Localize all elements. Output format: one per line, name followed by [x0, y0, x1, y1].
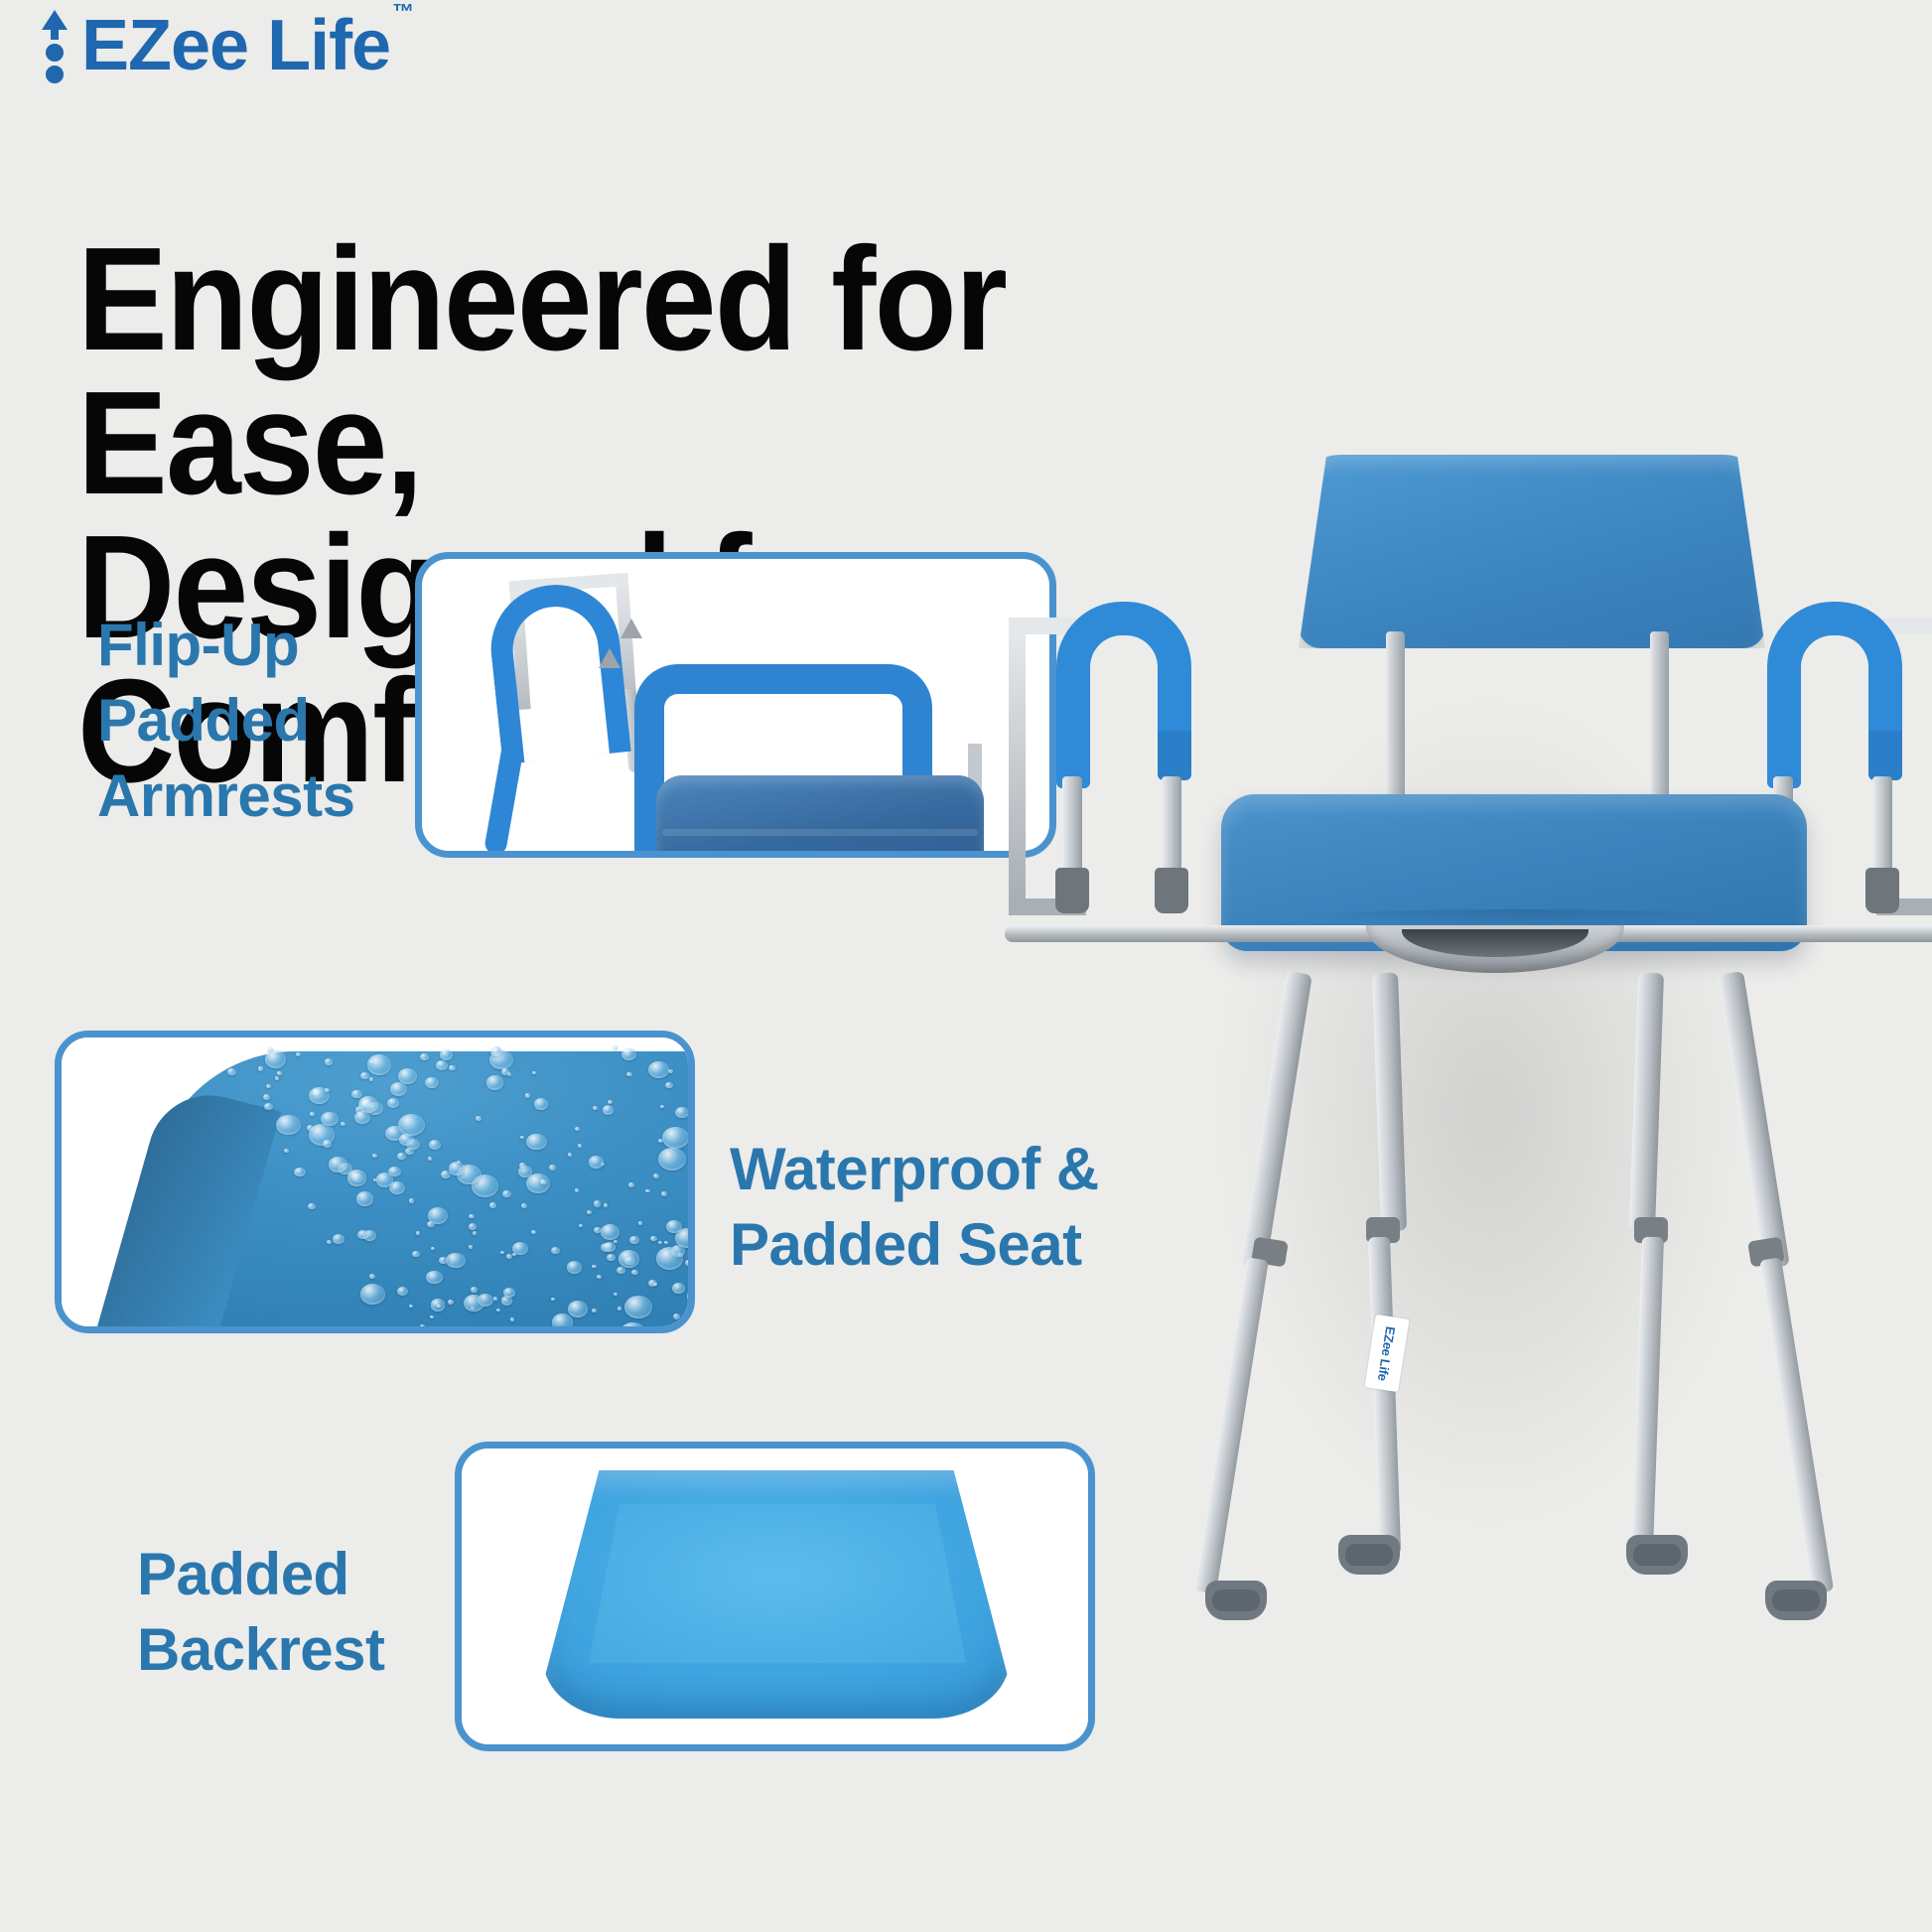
water-droplet [661, 1191, 667, 1196]
backrest-illustration [462, 1449, 1088, 1744]
water-droplet [347, 1170, 367, 1185]
headline-line-1: Engineered for Ease, [77, 217, 1006, 525]
water-droplet [638, 1221, 642, 1224]
water-droplet [614, 1045, 619, 1049]
water-droplet [622, 1328, 628, 1333]
water-droplet [412, 1251, 420, 1258]
water-droplet [486, 1075, 504, 1089]
flip-direction-arrow-icon [599, 648, 621, 668]
water-droplet [409, 1198, 414, 1202]
water-droplet [436, 1060, 449, 1070]
water-droplet [431, 1247, 435, 1250]
water-droplet [631, 1270, 638, 1276]
water-droplet [264, 1103, 273, 1110]
water-droplet [645, 1189, 650, 1193]
water-droplet [469, 1245, 473, 1248]
armrest-post-left-rear [1162, 776, 1181, 876]
water-droplet [429, 1140, 441, 1150]
water-droplet [360, 1284, 386, 1305]
water-droplet [351, 1090, 362, 1099]
armrest-left [1056, 602, 1195, 790]
water-droplet [427, 1221, 435, 1227]
water-droplet [675, 1107, 688, 1118]
water-droplet [589, 1156, 604, 1168]
water-droplet [489, 1202, 496, 1208]
water-droplet [656, 1247, 684, 1270]
water-droplet [608, 1100, 613, 1104]
water-droplet [673, 1313, 680, 1319]
water-droplet [486, 1327, 490, 1331]
water-droplet [593, 1106, 598, 1110]
water-droplet [525, 1093, 530, 1097]
water-droplet [446, 1253, 465, 1269]
leg-sticker-text: EZee Life [1375, 1325, 1398, 1382]
water-droplet [476, 1116, 482, 1121]
water-droplet [341, 1122, 345, 1126]
water-droplet [372, 1154, 377, 1158]
water-droplet [333, 1234, 345, 1244]
water-droplet [420, 1053, 429, 1061]
water-droplet [632, 1329, 637, 1333]
water-droplet [310, 1112, 314, 1116]
brand-logo: EZee Life™ [34, 10, 411, 85]
water-droplet [624, 1296, 652, 1318]
water-droplet [493, 1297, 497, 1301]
water-droplet [327, 1240, 332, 1244]
water-droplet [658, 1139, 663, 1143]
waterproof-seat-illustration [62, 1037, 688, 1326]
water-droplet [325, 1058, 333, 1064]
armrest-pad-left [1056, 602, 1191, 731]
water-droplet [626, 1072, 631, 1076]
water-droplet [653, 1283, 657, 1286]
water-droplet [604, 1203, 608, 1206]
armrest-post-left-front [1062, 776, 1082, 876]
water-droplet [552, 1313, 573, 1330]
armrest-pad-right [1767, 602, 1902, 731]
water-droplets [62, 1037, 688, 1326]
leg-foot-front-right [1765, 1581, 1827, 1620]
water-droplet [510, 1317, 514, 1320]
water-droplet [409, 1305, 413, 1308]
water-droplet [500, 1251, 504, 1254]
water-droplet [227, 1068, 236, 1075]
water-droplet [687, 1287, 695, 1307]
water-droplet [568, 1153, 572, 1156]
chair-backrest-pad [1299, 455, 1765, 648]
water-droplet [519, 1163, 526, 1169]
water-droplet [534, 1098, 549, 1110]
water-droplet [420, 1324, 425, 1328]
water-droplet [619, 1250, 639, 1267]
water-droplet [512, 1253, 516, 1256]
trademark-symbol: ™ [392, 0, 413, 24]
water-droplet [685, 1260, 693, 1266]
water-droplet [587, 1210, 592, 1214]
flip-direction-arrow-icon [621, 619, 642, 638]
water-droplet [628, 1182, 634, 1187]
water-droplet [568, 1301, 588, 1317]
water-droplet [356, 1191, 374, 1205]
water-droplet [266, 1084, 271, 1089]
water-droplet [578, 1144, 582, 1148]
water-droplet [496, 1309, 500, 1311]
water-droplet [614, 1293, 618, 1296]
up-arrow-dots-icon [34, 10, 75, 85]
water-droplet [531, 1230, 536, 1234]
water-droplet [376, 1173, 393, 1186]
water-droplet [439, 1257, 447, 1264]
water-droplet [490, 1047, 502, 1057]
water-droplet [551, 1298, 555, 1302]
water-droplet [416, 1231, 421, 1235]
water-droplet [520, 1136, 524, 1139]
leg-foot-rear-right [1626, 1535, 1688, 1575]
feature-label-armrests: Flip-Up Padded Armrests [97, 608, 425, 835]
water-droplet [354, 1111, 370, 1124]
water-droplet [567, 1261, 582, 1273]
water-droplet [448, 1300, 455, 1305]
armrest-bracket-left-rear [1155, 868, 1188, 913]
armrest-bracket-left-front [1055, 868, 1089, 913]
water-droplet [397, 1287, 408, 1296]
water-droplet [629, 1236, 639, 1244]
water-droplet [658, 1241, 662, 1244]
water-droplet [469, 1214, 474, 1218]
water-droplet [321, 1112, 339, 1126]
armrest-bracket-right-rear [1865, 868, 1899, 913]
water-droplet [617, 1267, 624, 1274]
water-droplet [464, 1295, 484, 1311]
water-droplet [620, 1322, 646, 1333]
water-droplet [575, 1188, 579, 1192]
water-droplet [294, 1168, 306, 1176]
water-droplet [430, 1315, 434, 1319]
water-droplet [618, 1307, 621, 1310]
water-droplet [648, 1061, 669, 1078]
water-droplet [308, 1203, 316, 1210]
water-droplet [329, 1157, 347, 1172]
water-droplet [501, 1068, 510, 1075]
armrest-illustration [422, 559, 1049, 851]
water-droplet [672, 1283, 685, 1294]
water-droplet [296, 1052, 301, 1056]
water-droplet [277, 1071, 281, 1075]
water-droplet [449, 1065, 456, 1071]
water-droplet [369, 1077, 374, 1081]
water-droplet [594, 1200, 602, 1206]
water-droplet [503, 1288, 515, 1298]
water-droplet [653, 1173, 659, 1178]
product-image-shower-chair: EZee Life [1082, 417, 1896, 1827]
water-droplet [440, 1329, 460, 1333]
water-droplet [658, 1148, 686, 1171]
water-droplet [592, 1265, 597, 1269]
water-droplet [449, 1162, 465, 1174]
water-droplet [540, 1179, 546, 1184]
brand-name-text: EZee Life [81, 6, 390, 85]
water-droplet [258, 1066, 263, 1070]
water-droplet [284, 1149, 289, 1153]
water-droplet [526, 1134, 547, 1151]
water-droplet [265, 1050, 287, 1068]
water-droplet [275, 1076, 279, 1079]
water-droplet [665, 1082, 673, 1088]
water-droplet [369, 1274, 375, 1279]
brand-name: EZee Life™ [81, 10, 411, 81]
water-droplet [549, 1165, 556, 1171]
leg-foot-front-left [1205, 1581, 1267, 1620]
water-droplet [575, 1127, 580, 1131]
water-droplet [469, 1223, 478, 1230]
seat-cushion-side-view [656, 775, 984, 858]
water-droplet [579, 1224, 583, 1227]
poster-canvas: EZee Life™ Engineered for Ease, Designed… [0, 0, 1932, 1932]
water-droplet [601, 1224, 621, 1240]
water-droplet [621, 1048, 636, 1060]
water-droplet [397, 1153, 405, 1160]
water-droplet [604, 1242, 616, 1252]
water-droplet [387, 1098, 399, 1108]
armrest-right [1767, 602, 1906, 790]
water-droplet [390, 1082, 408, 1097]
water-droplet [399, 1134, 413, 1146]
water-droplet [664, 1241, 668, 1245]
water-droplet [650, 1236, 656, 1241]
water-droplet [426, 1271, 442, 1284]
water-droplet [440, 1049, 453, 1059]
water-droplet [323, 1140, 333, 1148]
water-droplet [607, 1254, 616, 1261]
water-droplet [662, 1127, 689, 1149]
feature-image-backrest [455, 1442, 1095, 1751]
armrest-post-right-rear [1872, 776, 1892, 876]
feature-label-backrest: Padded Backrest [137, 1537, 465, 1688]
water-droplet [506, 1254, 513, 1260]
water-droplet [597, 1275, 602, 1279]
water-droplet [367, 1054, 391, 1074]
water-droplet [603, 1105, 615, 1115]
water-droplet [473, 1231, 477, 1235]
water-droplet [502, 1190, 511, 1197]
water-droplet [551, 1247, 559, 1254]
water-droplet [674, 1324, 695, 1333]
water-droplet [425, 1077, 439, 1089]
armrest-down-pad [634, 664, 932, 775]
water-droplet [660, 1105, 664, 1108]
water-droplet [521, 1203, 528, 1208]
leg-foot-rear-left [1338, 1535, 1400, 1575]
feature-image-seat [55, 1031, 695, 1333]
water-droplet [592, 1309, 597, 1312]
water-droplet [526, 1173, 550, 1193]
water-droplet [612, 1327, 626, 1333]
backrest-pad-inner-surface [585, 1504, 970, 1685]
water-droplet [263, 1094, 270, 1100]
water-droplet [428, 1157, 432, 1160]
feature-image-armrests [415, 552, 1056, 858]
water-droplet [471, 1287, 478, 1292]
water-droplet [276, 1115, 300, 1135]
water-droplet [360, 1072, 369, 1080]
water-droplet [532, 1071, 536, 1074]
